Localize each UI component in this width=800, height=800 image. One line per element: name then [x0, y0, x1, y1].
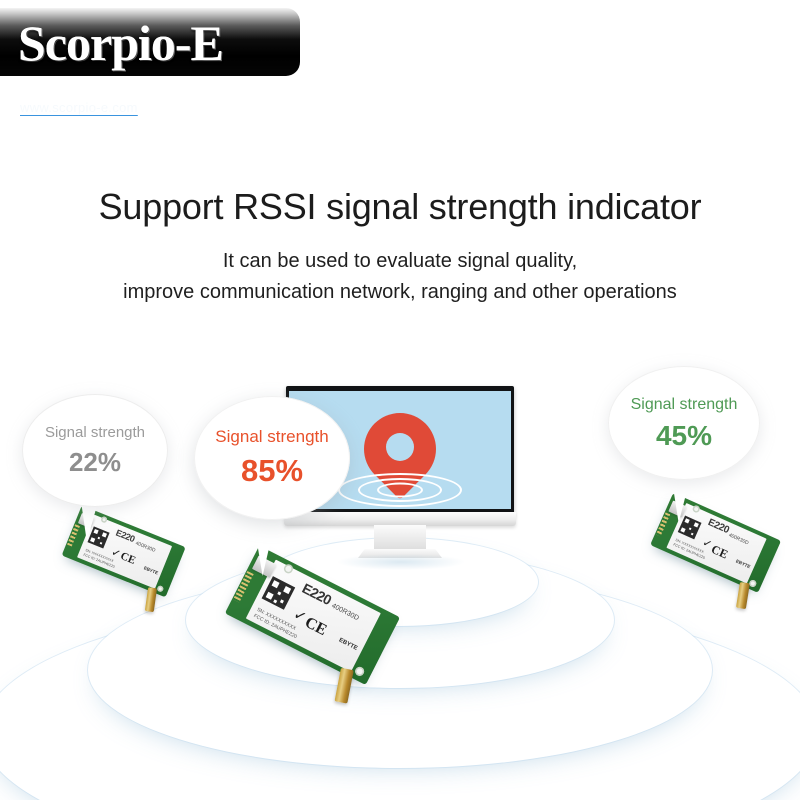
signal-bubble-right-value: 45% — [656, 421, 712, 450]
monitor-shadow — [338, 554, 464, 570]
signal-bubble-left-label: Signal strength — [45, 425, 145, 442]
site-watermark: www.scorpio-e.com — [20, 100, 220, 115]
map-pin-icon — [364, 413, 436, 497]
brand-banner: Scorpio-E — [0, 8, 300, 76]
center-module-antenna — [335, 668, 354, 704]
map-pin-hole — [386, 433, 414, 461]
signal-bubble-left[interactable]: Signal strength 22% — [22, 394, 168, 507]
signal-bubble-center[interactable]: Signal strength 85% — [194, 396, 350, 520]
site-watermark-text: www.scorpio-e.com — [20, 100, 138, 115]
monitor-neck — [374, 525, 426, 551]
product-banner: Scorpio-E www.scorpio-e.com Support RSSI… — [0, 0, 800, 800]
signal-bubble-center-value: 85% — [241, 455, 303, 488]
page-title: Support RSSI signal strength indicator — [0, 186, 800, 228]
right-module-antenna — [736, 582, 750, 609]
signal-bubble-right-label: Signal strength — [631, 396, 738, 414]
signal-bubble-left-value: 22% — [69, 449, 121, 476]
signal-bubble-right[interactable]: Signal strength 45% — [608, 366, 760, 480]
pin-ripple-1 — [377, 483, 423, 498]
subtitle-line-2: improve communication network, ranging a… — [0, 281, 800, 304]
left-module-antenna — [145, 587, 157, 612]
signal-bubble-center-label: Signal strength — [215, 428, 328, 447]
brand-name: Scorpio-E — [18, 10, 223, 76]
map-pin-ripples — [338, 473, 462, 507]
subtitle-line-1: It can be used to evaluate signal qualit… — [0, 250, 800, 273]
monitor-chin — [284, 512, 516, 526]
